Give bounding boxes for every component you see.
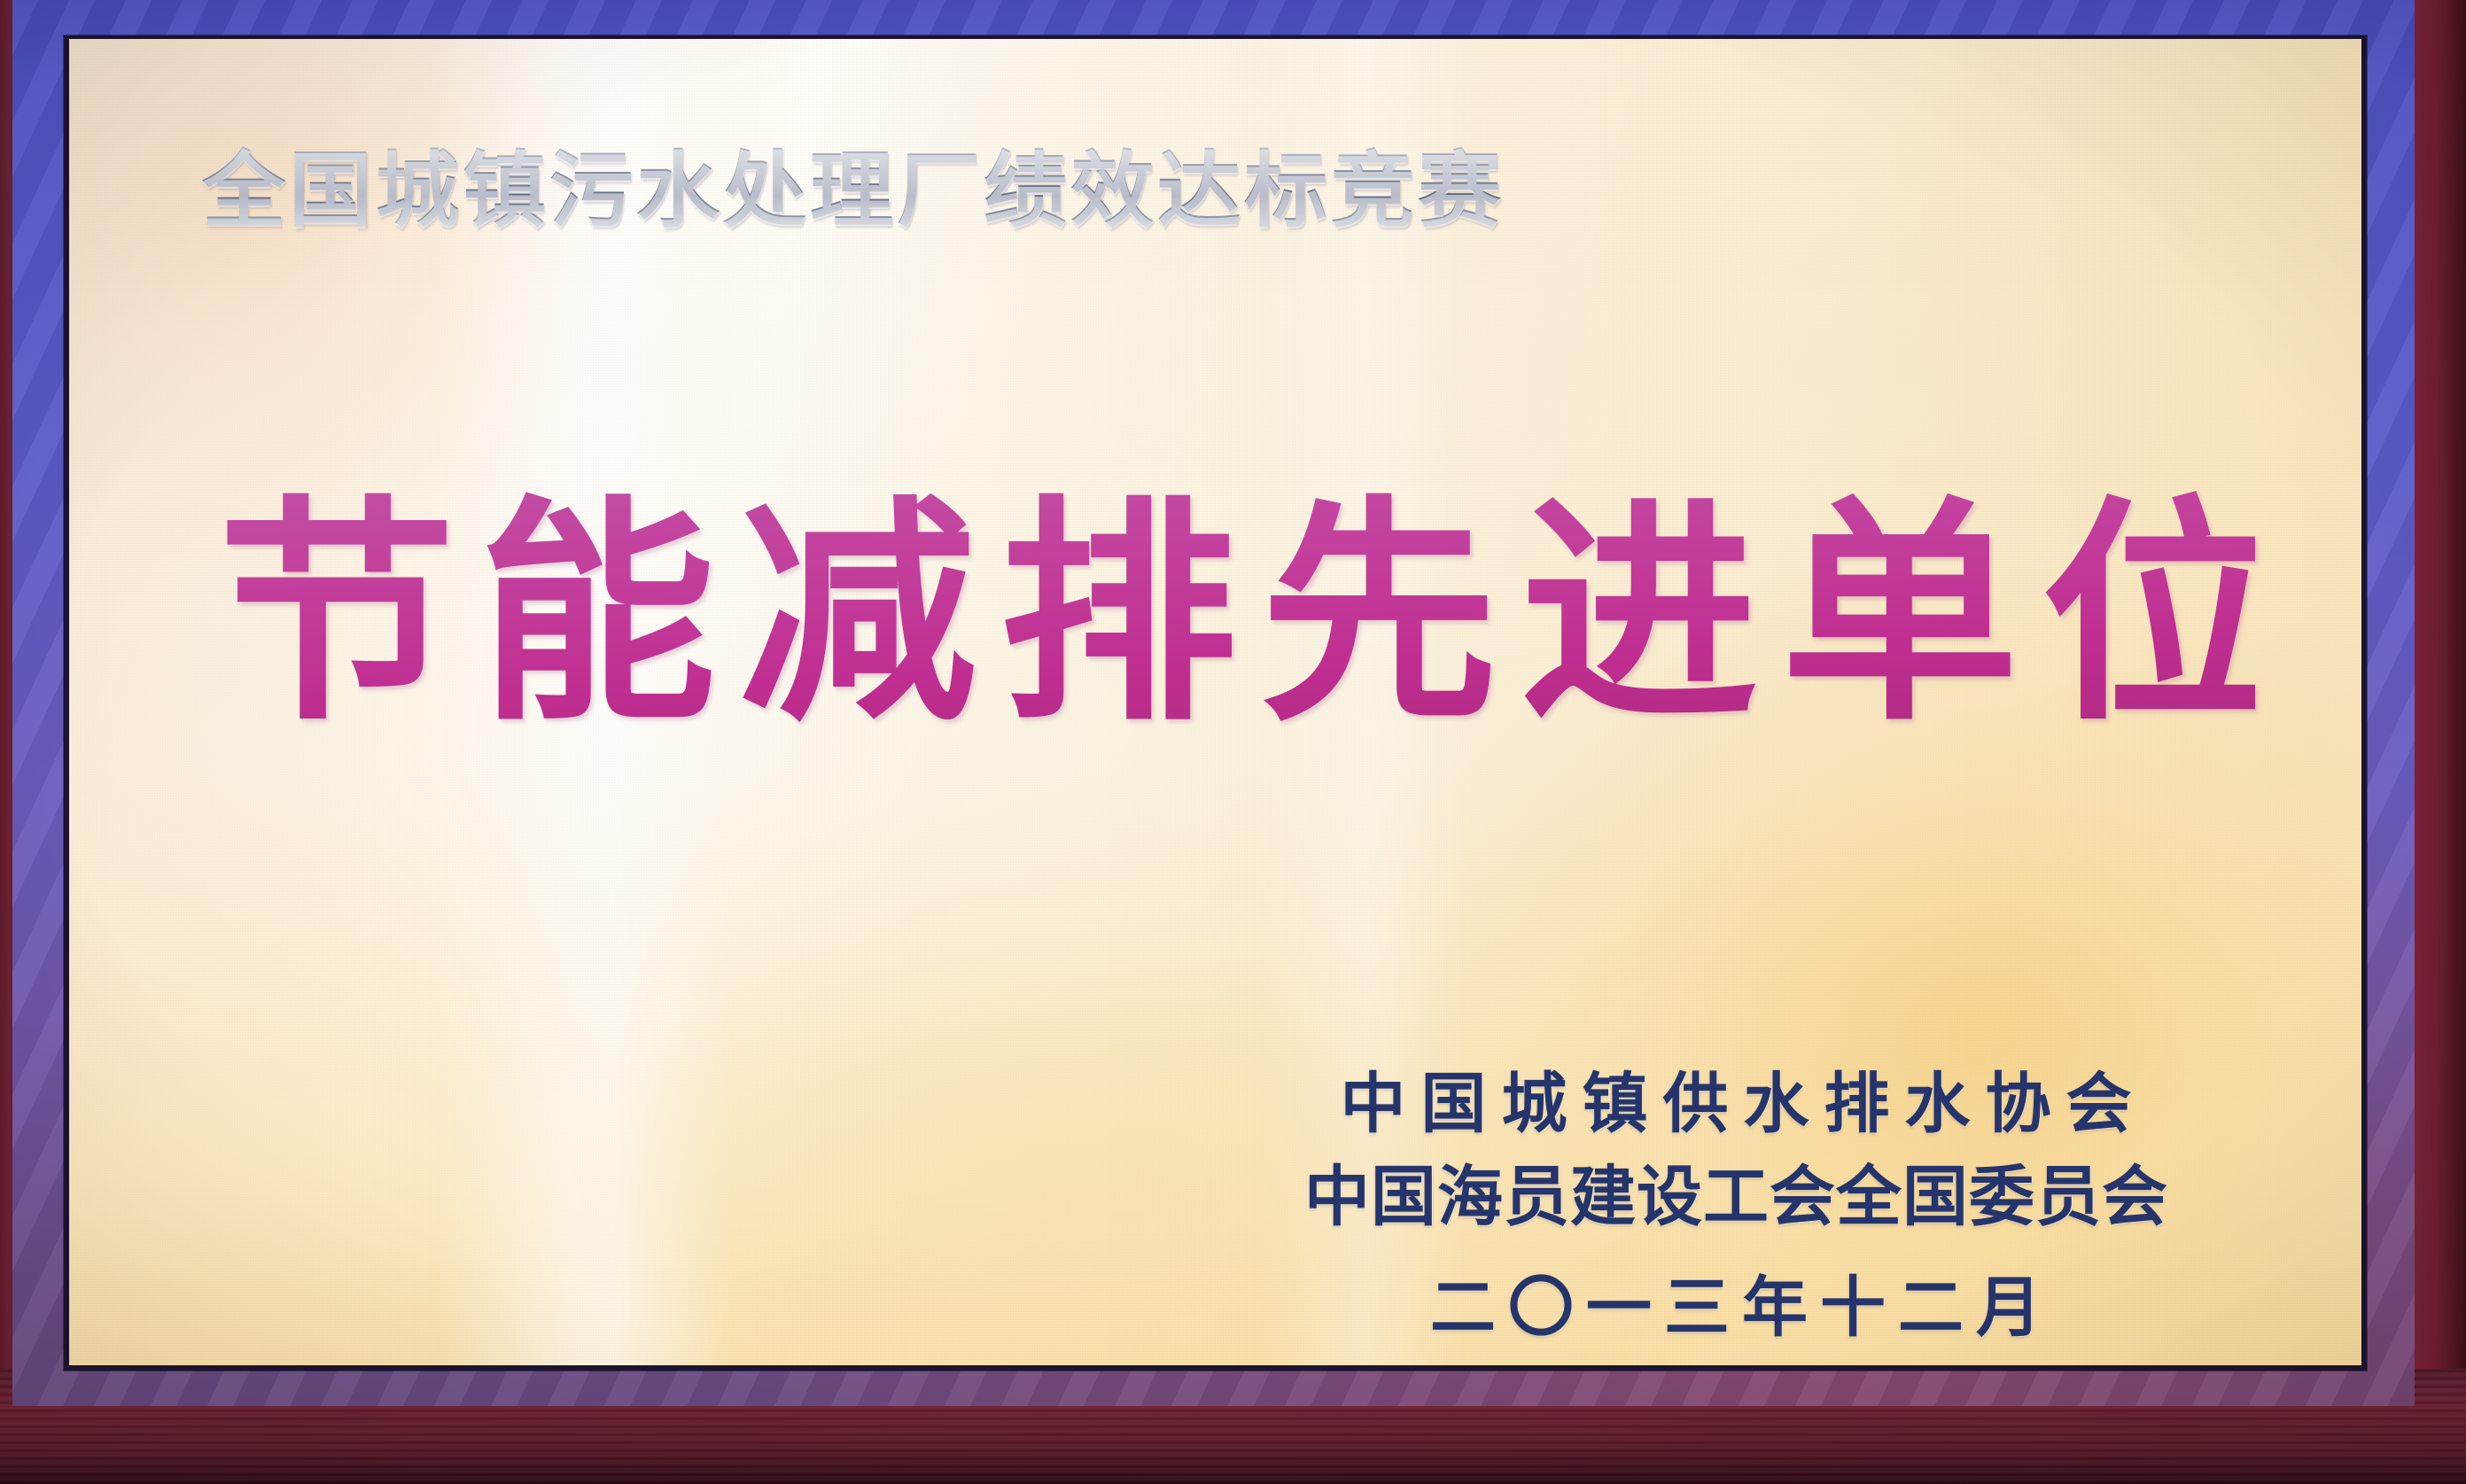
issuer-signature-block: 中国城镇供水排水协会 中国海员建设工会全国委员会 二〇一三年十二月 [1303,1058,2168,1355]
competition-subheader: 全国城镇污水处理厂绩效达标竞赛 [202,144,1505,239]
award-main-title: 节能减排先进单位 [218,482,2255,748]
issue-date: 二〇一三年十二月 [1303,1262,2168,1355]
issuing-organization-primary: 中国城镇供水排水协会 [1303,1058,2168,1151]
plaque-face: 全国城镇污水处理厂绩效达标竞赛 节能减排先进单位 中国城镇供水排水协会 中国海员… [69,39,2361,1365]
plaque-content: 全国城镇污水处理厂绩效达标竞赛 节能减排先进单位 中国城镇供水排水协会 中国海员… [69,39,2361,1365]
award-plaque-photo: 全国城镇污水处理厂绩效达标竞赛 节能减排先进单位 中国城镇供水排水协会 中国海员… [0,0,2466,1484]
issuing-organization-secondary: 中国海员建设工会全国委员会 [1303,1151,2168,1244]
